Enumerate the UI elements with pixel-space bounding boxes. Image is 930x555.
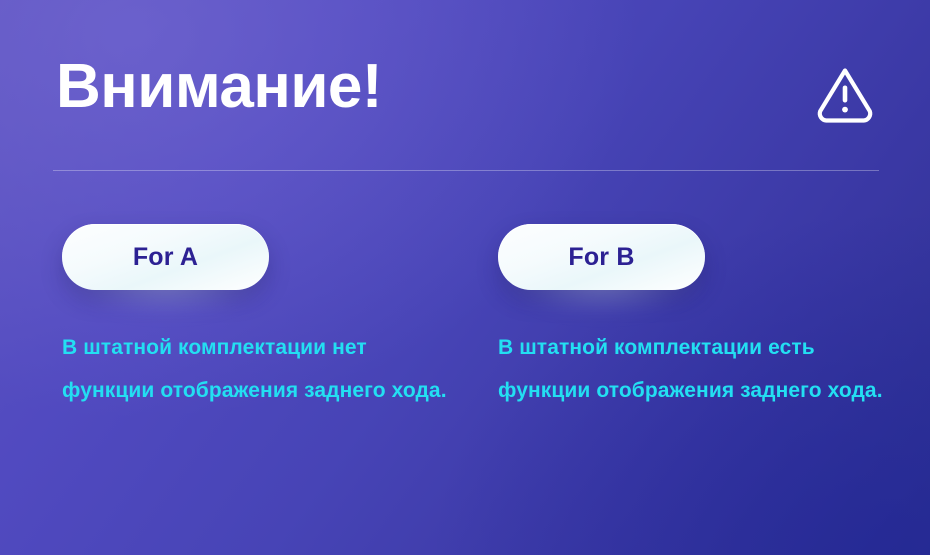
warning-triangle-icon: [812, 62, 878, 124]
for-a-button[interactable]: For A: [62, 224, 269, 290]
for-b-button[interactable]: For B: [498, 224, 705, 290]
for-b-button-wrap: For B: [498, 224, 705, 290]
warning-slide: Внимание! For A В штатной комплектации н…: [0, 0, 930, 555]
page-title: Внимание!: [56, 54, 382, 120]
column-for-b: For B В штатной комплектации есть функци…: [498, 224, 898, 412]
header-divider: [53, 170, 879, 171]
column-for-a: For A В штатной комплектации нет функции…: [62, 224, 462, 412]
warning-triangle-svg: [812, 62, 878, 124]
for-b-description: В штатной комплектации есть функции отоб…: [498, 326, 888, 412]
for-a-description: В штатной комплектации нет функции отобр…: [62, 326, 447, 412]
for-a-button-wrap: For A: [62, 224, 269, 290]
